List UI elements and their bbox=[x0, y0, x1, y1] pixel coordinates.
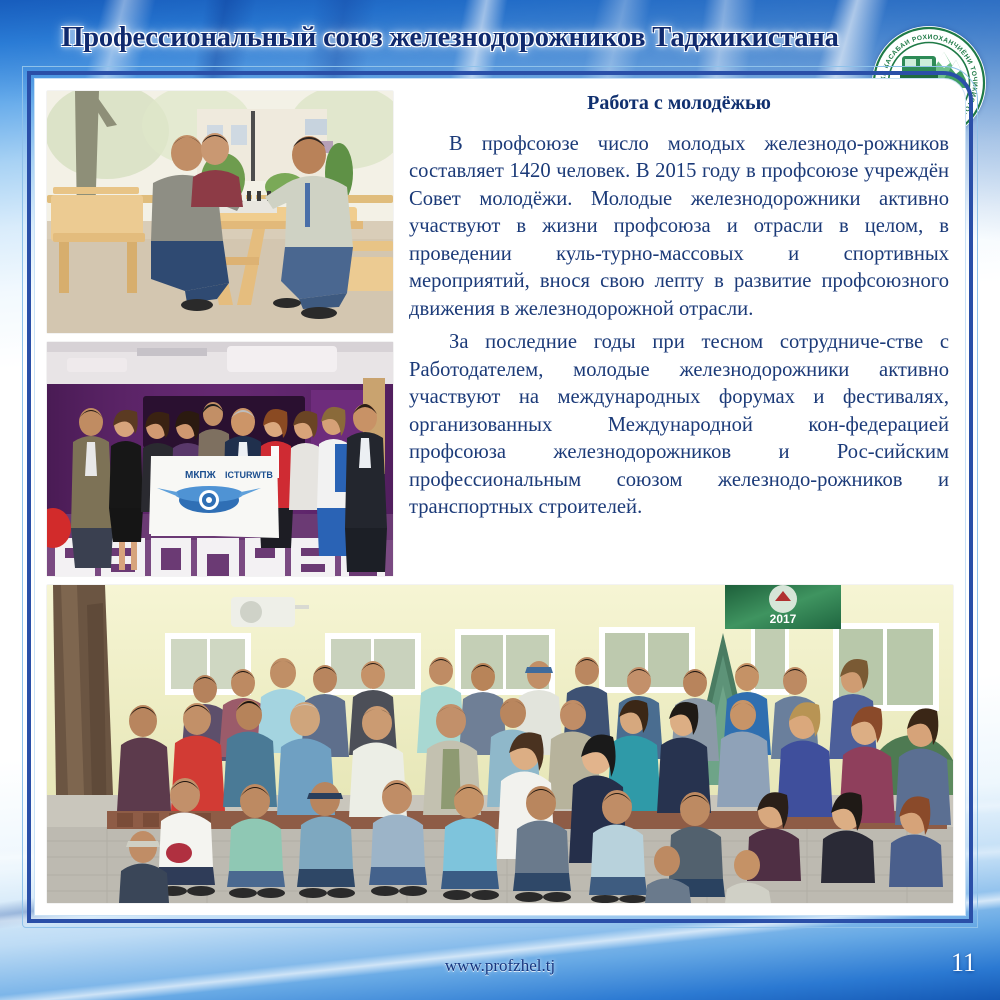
page-number: 11 bbox=[951, 948, 976, 978]
photo-group-photo: 2017 bbox=[47, 585, 953, 903]
page-content: МКПЖ ICTURWTB bbox=[34, 78, 966, 916]
svg-text:МКПЖ: МКПЖ bbox=[185, 470, 217, 481]
article-paragraph-2: За последние годы при тесном сотрудниче-… bbox=[409, 329, 949, 521]
footer-website-url[interactable]: www.profzhel.tj bbox=[0, 956, 1000, 976]
magazine-page: Профессиональный союз железнодорожников … bbox=[0, 0, 1000, 1000]
article-paragraph-1: В профсоюзе число молодых железнодо-рожн… bbox=[409, 131, 949, 323]
svg-text:2017: 2017 bbox=[770, 612, 797, 626]
photo-chess-players bbox=[47, 91, 393, 333]
section-heading: Работа с молодёжью bbox=[409, 92, 949, 115]
article-text-column: Работа с молодёжью В профсоюзе число мол… bbox=[409, 92, 949, 528]
page-title: Профессиональный союз железнодорожников … bbox=[0, 22, 900, 54]
photo-delegation-banner: МКПЖ ICTURWTB bbox=[47, 342, 393, 576]
svg-text:ICTURWTB: ICTURWTB bbox=[225, 470, 273, 480]
